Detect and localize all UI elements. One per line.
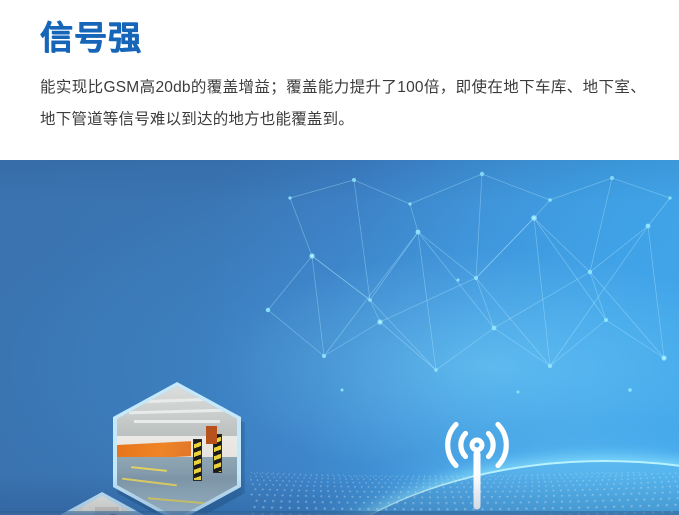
page-description: 能实现比GSM高20db的覆盖增益；覆盖能力提升了100倍，即使在地下车库、地下… — [40, 72, 646, 136]
hero-vignette — [0, 160, 679, 515]
hero-bottom-strip — [0, 511, 679, 515]
page-root: 信号强 能实现比GSM高20db的覆盖增益；覆盖能力提升了100倍，即使在地下车… — [0, 0, 679, 515]
page-title: 信号强 — [40, 18, 142, 58]
text-section: 信号强 能实现比GSM高20db的覆盖增益；覆盖能力提升了100倍，即使在地下车… — [0, 0, 679, 160]
hero-banner — [0, 160, 679, 515]
